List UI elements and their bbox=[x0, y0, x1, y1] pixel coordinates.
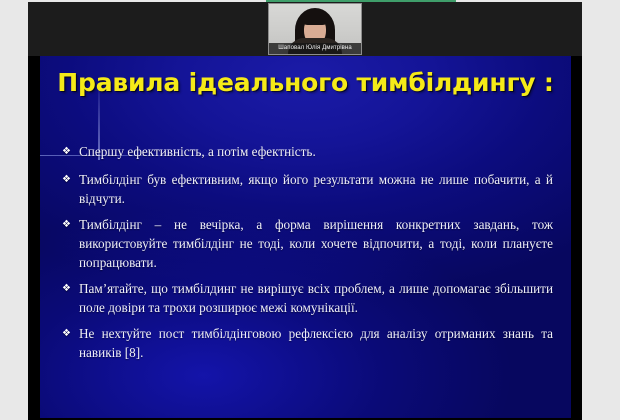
list-item-text: Тимбілдінг був ефективним, якщо його рез… bbox=[79, 170, 553, 208]
diamond-bullet-icon: ❖ bbox=[62, 279, 79, 298]
list-item: ❖ Не нехтуйте пост тимбілдінговою рефлек… bbox=[62, 324, 553, 362]
list-item-text: Тимбілдінг – не вечірка, а форма вирішен… bbox=[79, 215, 553, 272]
list-item-text: Пам’ятайте, що тимбілдинг не вирішує всі… bbox=[79, 279, 553, 317]
slide-title: Правила ідеального тимбілдингу : bbox=[40, 68, 571, 98]
participant-name-label: Шаповал Юлія Дмитрівна bbox=[269, 43, 361, 54]
diamond-bullet-icon: ❖ bbox=[62, 142, 79, 161]
list-item-text: Не нехтуйте пост тимбілдінговою рефлексі… bbox=[79, 324, 553, 362]
list-item: ❖ Тимбілдінг – не вечірка, а форма виріш… bbox=[62, 215, 553, 272]
participant-fringe-shape bbox=[302, 15, 328, 25]
diamond-bullet-icon: ❖ bbox=[62, 215, 79, 234]
list-item: ❖ Cпершу ефективність, а потім ефектніст… bbox=[62, 142, 553, 161]
list-item: ❖ Тимбілдінг був ефективним, якщо його р… bbox=[62, 170, 553, 208]
participant-video-tile[interactable]: Шаповал Юлія Дмитрівна bbox=[268, 3, 362, 55]
slide-bullet-list: ❖ Cпершу ефективність, а потім ефектніст… bbox=[62, 142, 553, 369]
list-item: ❖ Пам’ятайте, що тимбілдинг не вирішує в… bbox=[62, 279, 553, 317]
diamond-bullet-icon: ❖ bbox=[62, 324, 79, 343]
list-item-text: Cпершу ефективність, а потім ефектність. bbox=[79, 142, 553, 161]
screen-share-stage: Шаповал Юлія Дмитрівна Правила ідеальног… bbox=[0, 0, 620, 420]
presentation-slide: Правила ідеального тимбілдингу : ❖ Cперш… bbox=[40, 56, 571, 418]
diamond-bullet-icon: ❖ bbox=[62, 170, 79, 189]
